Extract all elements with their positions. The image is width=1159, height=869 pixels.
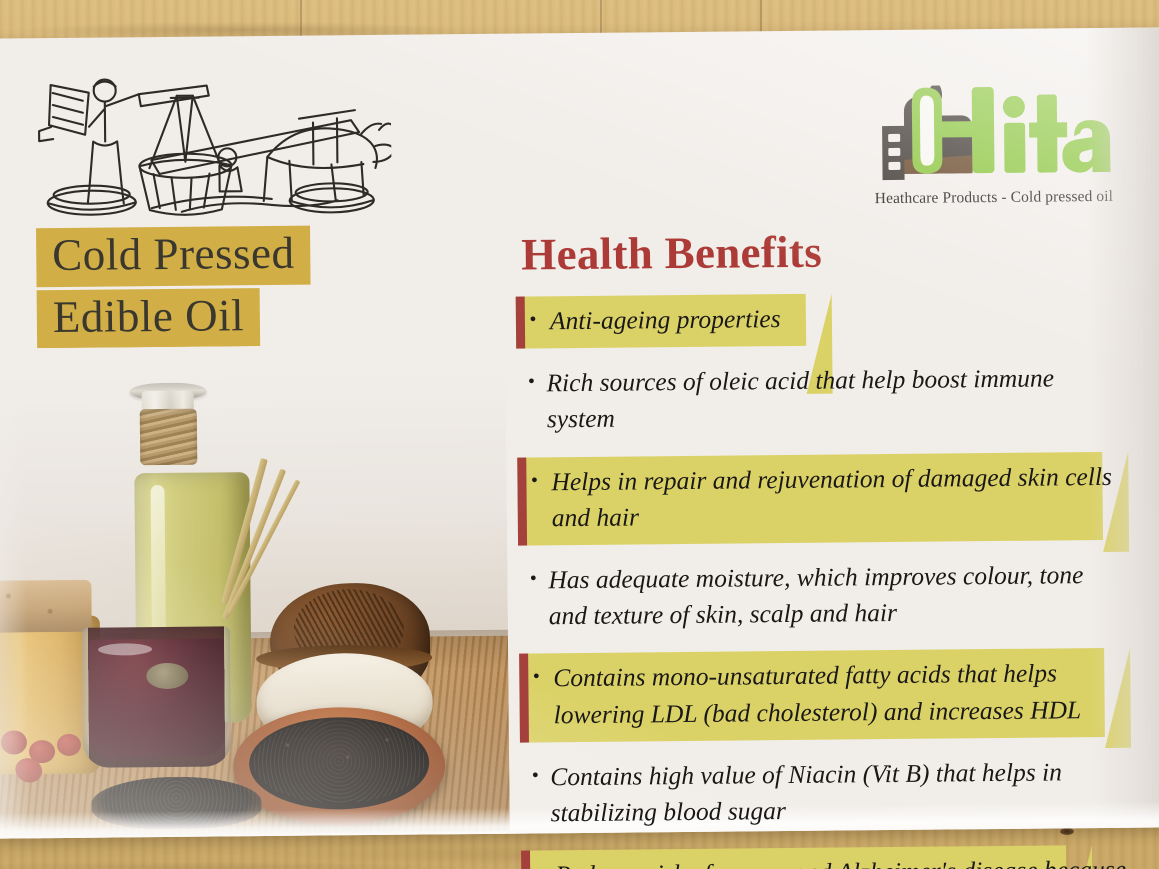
benefit-text: Anti-ageing properties <box>550 301 793 340</box>
benefit-text: Reduces risk of cancer and Alzheimer's d… <box>555 852 1142 869</box>
bullet-icon: • <box>516 303 550 334</box>
benefit-item: • Contains high value of Niacin (Vit B) … <box>520 746 1141 840</box>
page-title-line-1: Cold Pressed <box>36 226 311 287</box>
bullet-icon: • <box>519 661 553 692</box>
benefits-heading: Health Benefits <box>521 223 1135 281</box>
hita-logo-mark <box>874 80 1111 190</box>
bullet-icon: • <box>521 857 555 869</box>
benefit-text: Has adequate moisture, which improves co… <box>548 557 1139 635</box>
benefit-text: Contains high value of Niacin (Vit B) th… <box>550 753 1141 831</box>
benefit-item: • Helps in repair and rejuvenation of da… <box>517 451 1138 545</box>
peanut <box>57 734 81 756</box>
benefit-text: Rich sources of oleic acid that help boo… <box>546 360 1137 438</box>
benefit-item: • Reduces risk of cancer and Alzheimer's… <box>521 845 1142 869</box>
traditional-oil-press-illustration <box>30 60 392 223</box>
bullet-icon: • <box>517 464 551 495</box>
benefit-item: • Has adequate moisture, which improves … <box>518 550 1139 644</box>
bottle-twine-wrap <box>140 409 198 466</box>
photo-top-fade <box>0 344 506 419</box>
photo-scene: Cold Pressed Edible Oil <box>0 0 1159 869</box>
poster-right-column: Health Benefits • Anti-ageing properties… <box>515 223 1142 869</box>
brand-logo: Heathcare Products - Cold pressed oil <box>874 80 1115 222</box>
benefit-item: • Rich sources of oleic acid that help b… <box>516 353 1137 447</box>
benefit-item: • Anti-ageing properties <box>516 291 1136 349</box>
benefit-item: • Contains mono-unsaturated fatty acids … <box>519 648 1140 742</box>
bullet-icon: • <box>518 562 548 593</box>
brand-tagline: Heathcare Products - Cold pressed oil <box>875 188 1125 208</box>
benefit-text: Contains mono-unsaturated fatty acids th… <box>553 655 1140 733</box>
bullet-icon: • <box>520 759 550 790</box>
spilled-sesame-seeds <box>91 776 261 830</box>
product-photograph <box>0 344 510 837</box>
benefit-text: Helps in repair and rejuvenation of dama… <box>551 458 1138 536</box>
photo-left-fade <box>0 348 30 836</box>
bullet-icon: • <box>516 366 546 397</box>
dark-oil <box>88 638 225 757</box>
printed-poster: Cold Pressed Edible Oil <box>0 27 1159 838</box>
page-title-line-2: Edible Oil <box>37 288 261 349</box>
poster-left-column: Cold Pressed Edible Oil <box>4 34 522 839</box>
